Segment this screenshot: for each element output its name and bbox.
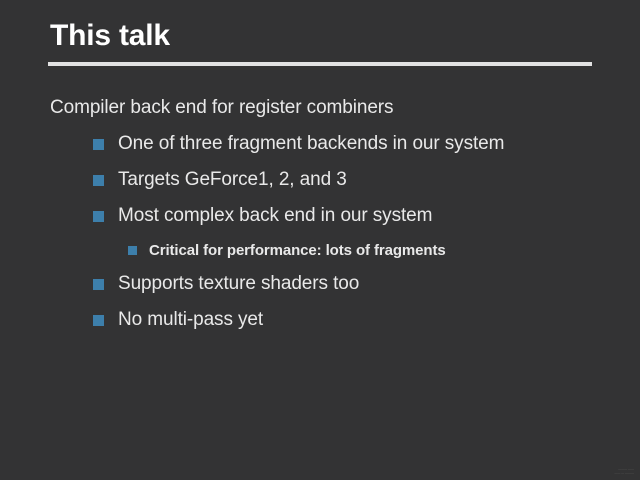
bullet-item-level2: Most complex back end in our system — [0, 204, 640, 240]
slide-title: This talk — [50, 19, 170, 53]
corner-watermark-line2: —— — ——— — [606, 471, 634, 475]
bullet-text: One of three fragment backends in our sy… — [118, 132, 504, 156]
bullet-text: Targets GeForce1, 2, and 3 — [118, 168, 347, 192]
bullet-text: Most complex back end in our system — [118, 204, 432, 228]
bullet-item-level2: Targets GeForce1, 2, and 3 — [0, 168, 640, 204]
corner-watermark: ——— —— —— — ——— — [606, 467, 634, 475]
bullet-item-level2: No multi-pass yet — [0, 308, 640, 344]
title-divider — [48, 62, 592, 66]
slide: This talk Compiler back end for register… — [0, 0, 640, 480]
bullet-item-level3: Critical for performance: lots of fragme… — [0, 240, 640, 272]
bullet-text: Supports texture shaders too — [118, 272, 359, 296]
bullet-list: Compiler back end for register combiners… — [0, 96, 640, 344]
bullet-text: Compiler back end for register combiners — [50, 96, 393, 120]
square-bullet-icon — [93, 175, 104, 186]
square-bullet-icon — [93, 279, 104, 290]
bullet-text: No multi-pass yet — [118, 308, 263, 332]
bullet-item-level1: Compiler back end for register combiners — [0, 96, 640, 132]
bullet-item-level2: One of three fragment backends in our sy… — [0, 132, 640, 168]
bullet-item-level2: Supports texture shaders too — [0, 272, 640, 308]
square-bullet-icon — [93, 139, 104, 150]
square-bullet-icon — [128, 246, 137, 255]
bullet-text: Critical for performance: lots of fragme… — [149, 240, 446, 261]
square-bullet-icon — [93, 211, 104, 222]
square-bullet-icon — [93, 315, 104, 326]
